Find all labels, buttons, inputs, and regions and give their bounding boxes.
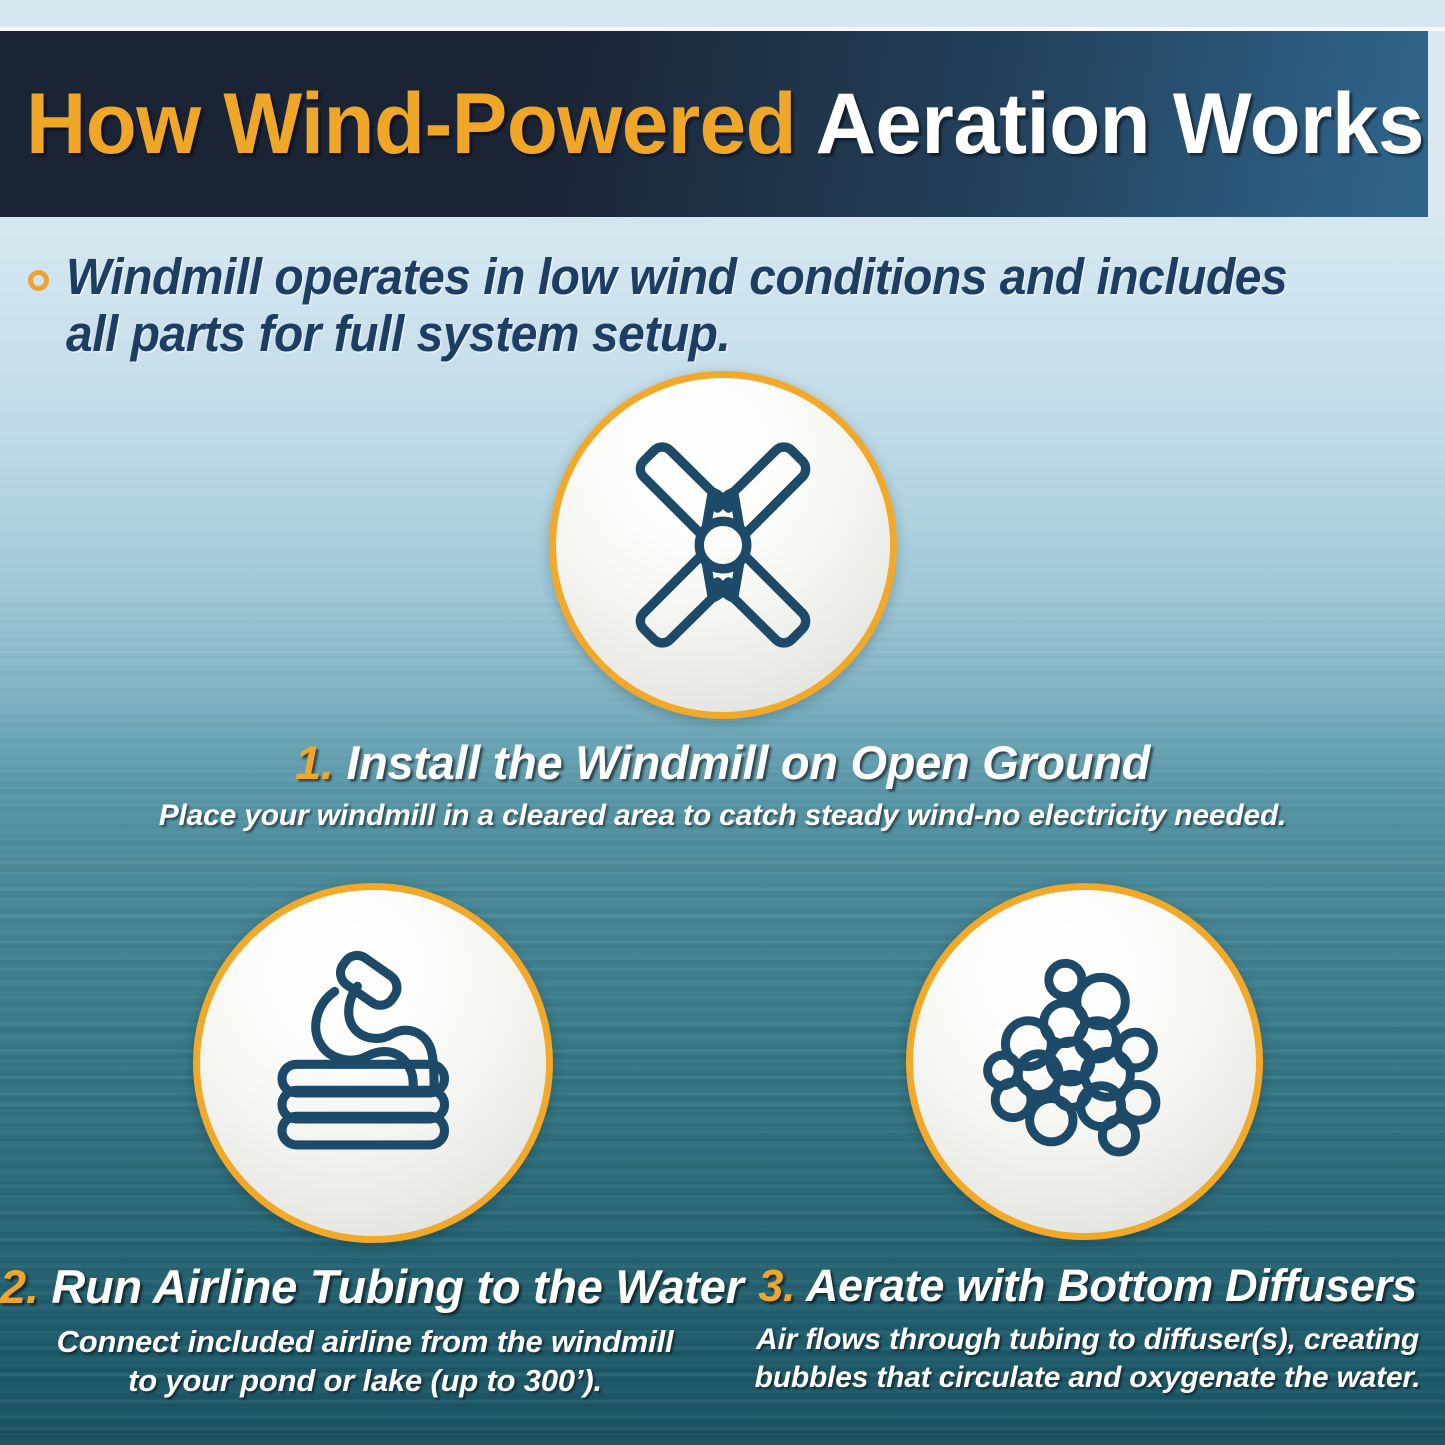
step-2-body: Connect included airline from the windmi… <box>0 1323 730 1401</box>
step-3-heading: 3. Aerate with Bottom Diffusers <box>730 1262 1445 1309</box>
step-2-icon-circle <box>193 883 553 1243</box>
step-3-body-line-2: bubbles that circulate and oxygenate the… <box>730 1359 1445 1397</box>
step-2-number: 2. <box>0 1260 39 1313</box>
step-1-icon-circle <box>549 371 897 719</box>
header-bar: How Wind-Powered Aeration Works <box>0 31 1428 217</box>
infographic-poster: How Wind-Powered Aeration Works Windmill… <box>0 0 1445 1445</box>
step-3-body-line-1: Air flows through tubing to diffuser(s),… <box>730 1321 1445 1359</box>
step-2-heading-text: Run Airline Tubing to the Water <box>51 1260 743 1313</box>
page-title-gold-part: How Wind-Powered <box>26 76 796 172</box>
page-title: How Wind-Powered Aeration Works <box>26 81 1424 167</box>
step-1-body: Place your windmill in a cleared area to… <box>0 797 1445 835</box>
step-2-body-line-1: Connect included airline from the windmi… <box>0 1323 730 1362</box>
step-1-caption: 1. Install the Windmill on Open Ground P… <box>0 738 1445 835</box>
page-title-white-part: Aeration Works <box>816 76 1424 172</box>
intro-bullet-text: Windmill operates in low wind conditions… <box>66 248 1337 362</box>
step-3-caption: 3. Aerate with Bottom Diffusers Air flow… <box>730 1262 1445 1396</box>
top-light-strip <box>0 0 1445 27</box>
step-3-heading-text: Aerate with Bottom Diffusers <box>806 1260 1417 1311</box>
step-3-body: Air flows through tubing to diffuser(s),… <box>730 1321 1445 1396</box>
step-1-heading: 1. Install the Windmill on Open Ground <box>0 738 1445 787</box>
windmill-fan-icon <box>598 420 848 670</box>
step-2-body-line-2: to your pond or lake (up to 300’). <box>0 1362 730 1401</box>
ring-bullet-icon <box>28 270 49 291</box>
step-1-heading-text: Install the Windmill on Open Ground <box>346 736 1150 789</box>
step-2-caption: 2. Run Airline Tubing to the Water Conne… <box>0 1262 730 1401</box>
step-3-number: 3. <box>758 1260 795 1311</box>
step-2-heading: 2. Run Airline Tubing to the Water <box>0 1262 730 1311</box>
header-right-margin <box>1428 31 1445 217</box>
step-3-icon-circle <box>906 883 1263 1240</box>
step-1-number: 1. <box>295 736 334 789</box>
intro-bullet-row: Windmill operates in low wind conditions… <box>28 248 1418 362</box>
coiled-airline-tubing-icon <box>243 933 503 1193</box>
bubbles-diffuser-icon <box>957 934 1212 1189</box>
